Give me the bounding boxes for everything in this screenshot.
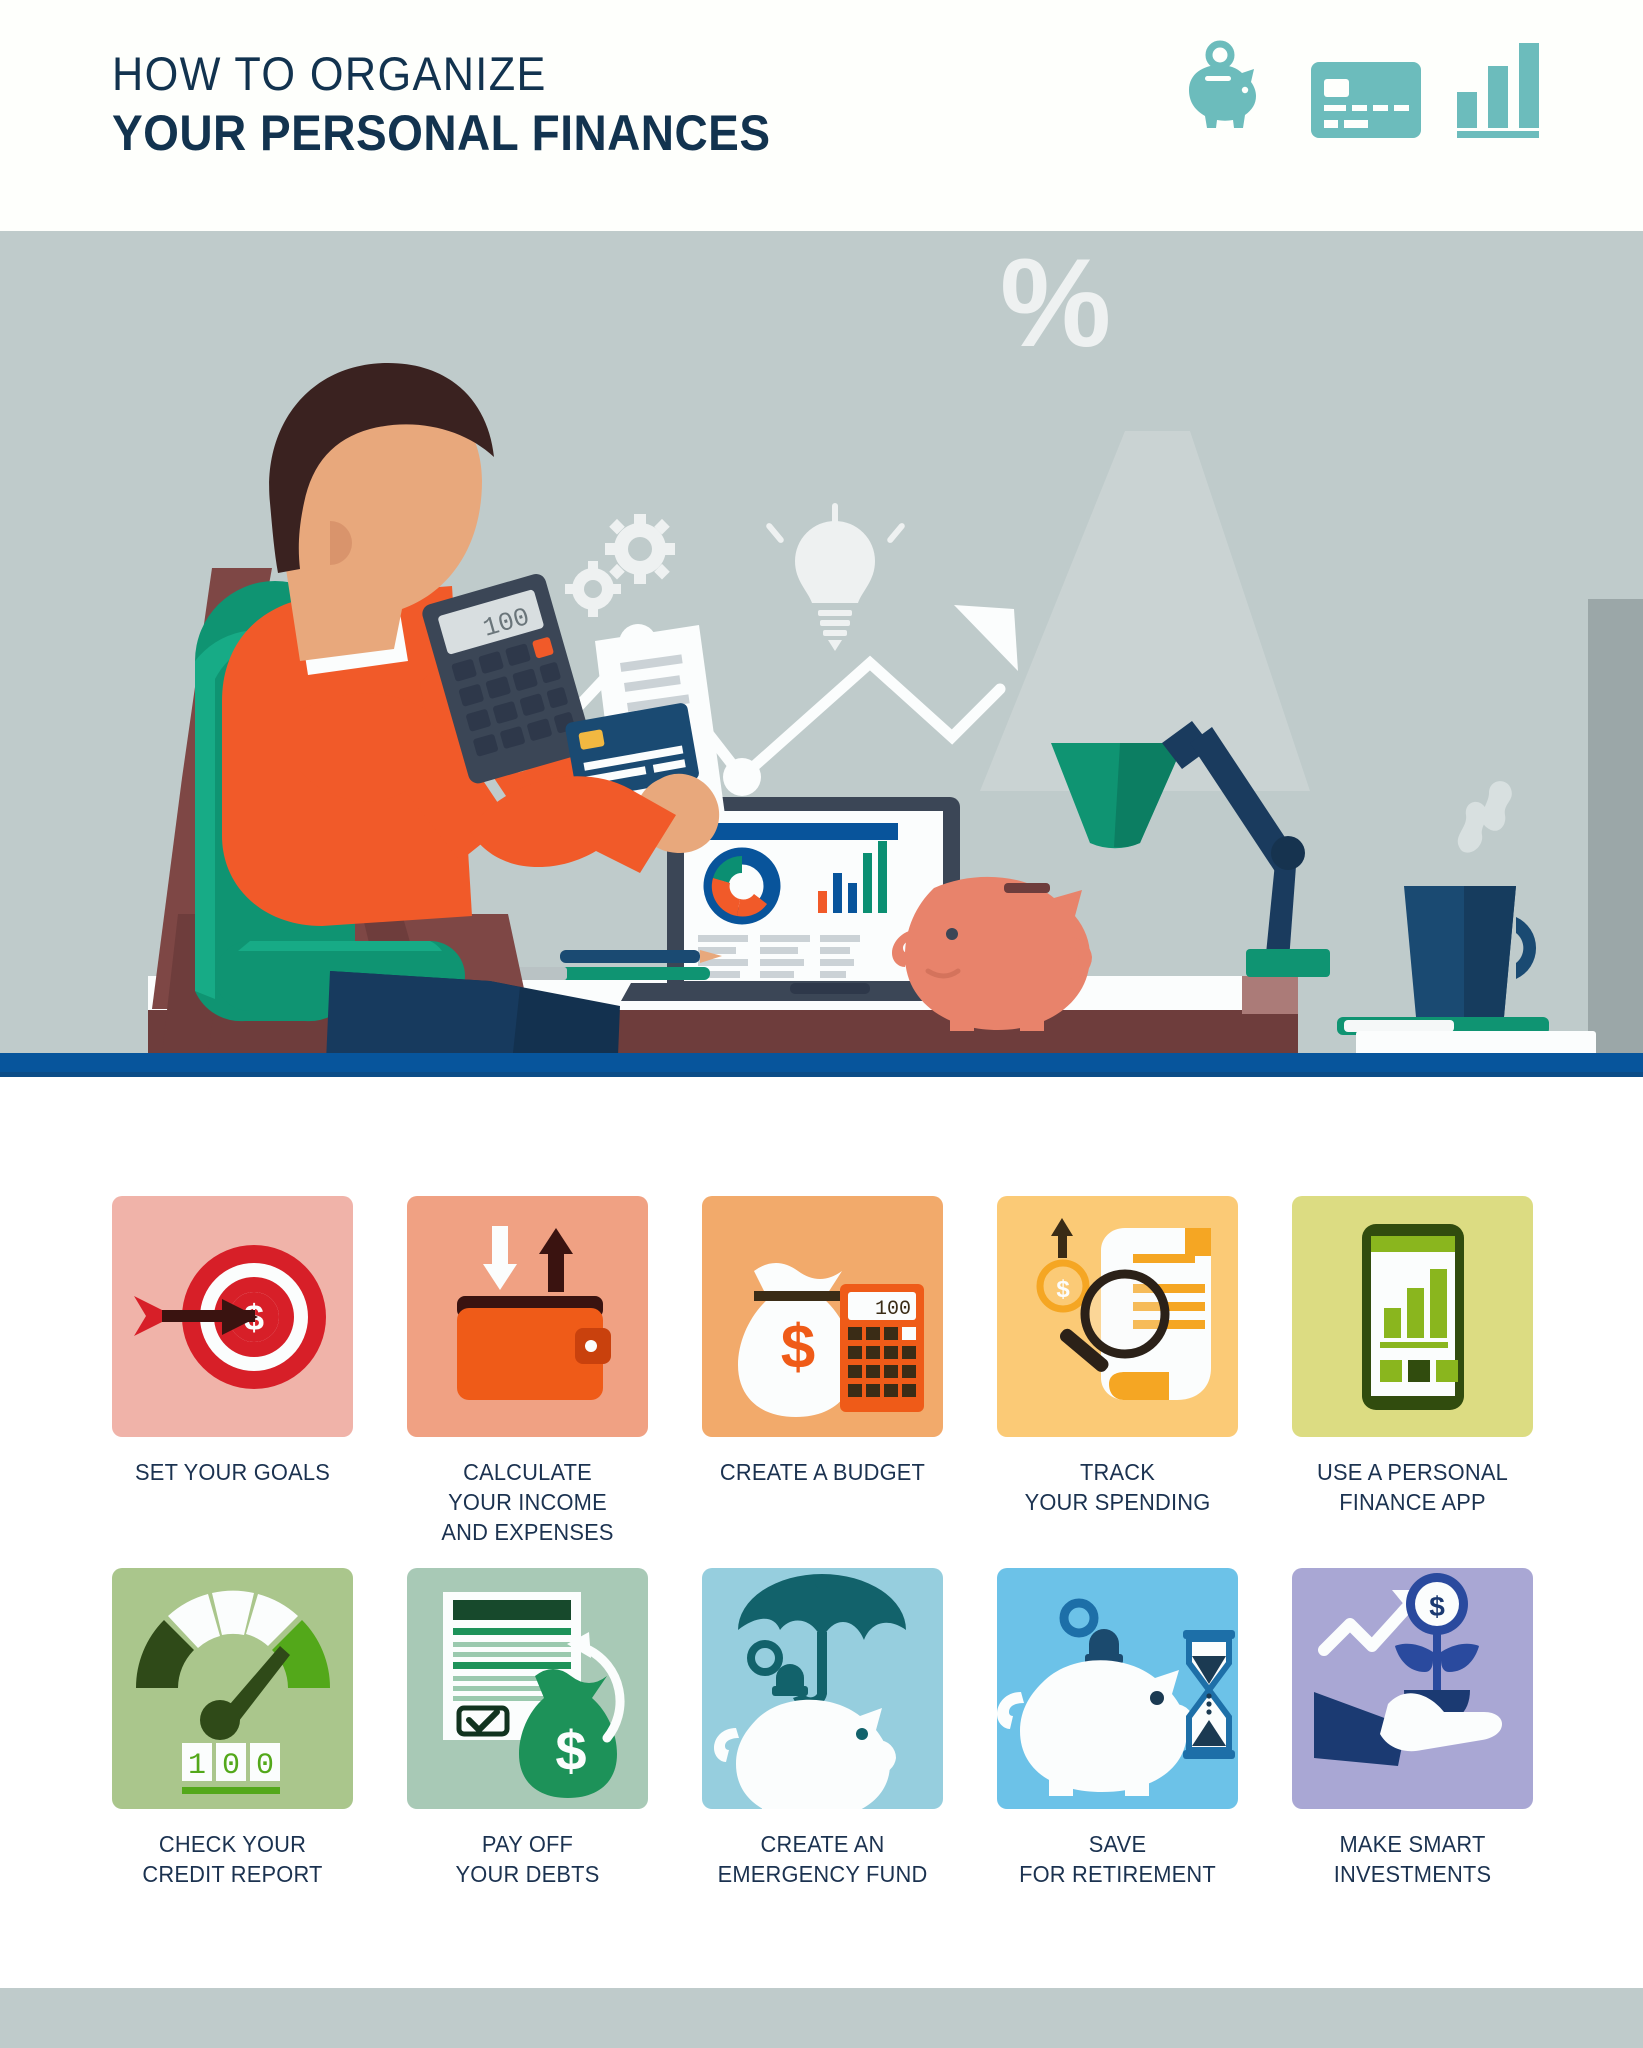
money-bag-and-calculator-icon: $ 100 <box>702 1196 943 1437</box>
step-label: TRACK YOUR SPENDING <box>1005 1457 1229 1517</box>
svg-text:100: 100 <box>875 1298 911 1321</box>
footer-band <box>0 1988 1643 2048</box>
step-pay-off-your-debts[interactable]: $ PAY OFF YOUR DEBTS <box>407 1568 648 1889</box>
step-check-your-credit-report[interactable]: 1 0 0 CHECK YOUR CREDIT REPORT <box>112 1568 353 1889</box>
hero-illustration: % <box>0 231 1643 1053</box>
magnifier-over-receipt-icon: $ <box>997 1196 1238 1437</box>
smartphone-with-chart-icon <box>1292 1196 1533 1437</box>
steps-grid: $ SET YOUR GOALS <box>112 1196 1532 1889</box>
tile-create-a-budget[interactable]: $ 100 <box>702 1196 943 1437</box>
title-line-1: HOW TO ORGANIZE <box>112 48 770 101</box>
wallet-with-arrows-icon <box>407 1196 648 1437</box>
umbrella-over-piggy-bank-icon <box>702 1568 943 1809</box>
step-make-smart-investments[interactable]: $ MAKE SMART INVESTMENTS <box>1292 1568 1533 1889</box>
step-label: SAVE FOR RETIREMENT <box>1005 1829 1229 1889</box>
step-create-an-emergency-fund[interactable]: CREATE AN EMERGENCY FUND <box>702 1568 943 1889</box>
step-label: CREATE A BUDGET <box>710 1457 934 1487</box>
step-label: MAKE SMART INVESTMENTS <box>1300 1829 1524 1889</box>
tile-calculate-income-expenses[interactable] <box>407 1196 648 1437</box>
credit-score-gauge-icon: 1 0 0 <box>112 1568 353 1809</box>
page-title: HOW TO ORGANIZE YOUR PERSONAL FINANCES <box>112 48 828 161</box>
step-set-your-goals[interactable]: $ SET YOUR GOALS <box>112 1196 353 1547</box>
header-icon-group <box>1175 38 1543 143</box>
tile-track-your-spending[interactable]: $ <box>997 1196 1238 1437</box>
step-label: PAY OFF YOUR DEBTS <box>415 1829 639 1889</box>
invoice-with-money-bag-icon: $ <box>407 1568 648 1809</box>
step-label: CHECK YOUR CREDIT REPORT <box>120 1829 344 1889</box>
svg-text:$: $ <box>781 1313 815 1382</box>
tile-create-an-emergency-fund[interactable] <box>702 1568 943 1809</box>
piggy-bank-icon <box>1175 38 1275 143</box>
credit-card-icon <box>1311 62 1421 143</box>
hand-with-money-plant-icon: $ <box>1292 1568 1533 1809</box>
tile-pay-off-your-debts[interactable]: $ <box>407 1568 648 1809</box>
svg-text:$: $ <box>1429 1591 1445 1622</box>
tile-make-smart-investments[interactable]: $ <box>1292 1568 1533 1809</box>
infographic-page: HOW TO ORGANIZE YOUR PERSONAL FINANCES <box>0 0 1643 2048</box>
step-label: CALCULATE YOUR INCOME AND EXPENSES <box>415 1457 639 1547</box>
target-with-arrow-icon: $ <box>112 1196 353 1437</box>
tile-use-a-personal-finance-app[interactable] <box>1292 1196 1533 1437</box>
step-label: USE A PERSONAL FINANCE APP <box>1300 1457 1524 1517</box>
section-divider-shadow <box>0 1072 1643 1077</box>
step-use-a-personal-finance-app[interactable]: USE A PERSONAL FINANCE APP <box>1292 1196 1533 1547</box>
bar-chart-icon <box>1457 38 1543 143</box>
step-label: SET YOUR GOALS <box>120 1457 344 1487</box>
tile-check-your-credit-report[interactable]: 1 0 0 <box>112 1568 353 1809</box>
tile-set-your-goals[interactable]: $ <box>112 1196 353 1437</box>
step-label: CREATE AN EMERGENCY FUND <box>710 1829 934 1889</box>
step-calculate-income-expenses[interactable]: CALCULATE YOUR INCOME AND EXPENSES <box>407 1196 648 1547</box>
step-track-your-spending[interactable]: $ TRACK YOUR SPENDING <box>997 1196 1238 1547</box>
piggy-bank-with-hourglass-icon <box>997 1568 1238 1809</box>
step-create-a-budget[interactable]: $ 100 <box>702 1196 943 1547</box>
svg-text:0: 0 <box>222 1749 240 1783</box>
svg-text:$: $ <box>1056 1276 1070 1303</box>
svg-text:1: 1 <box>188 1749 206 1783</box>
tile-save-for-retirement[interactable] <box>997 1568 1238 1809</box>
header: HOW TO ORGANIZE YOUR PERSONAL FINANCES <box>0 0 1643 231</box>
svg-text:0: 0 <box>256 1749 274 1783</box>
step-save-for-retirement[interactable]: SAVE FOR RETIREMENT <box>997 1568 1238 1889</box>
title-line-2: YOUR PERSONAL FINANCES <box>112 105 770 161</box>
svg-text:$: $ <box>555 1719 586 1782</box>
percent-symbol: % <box>1000 234 1111 373</box>
